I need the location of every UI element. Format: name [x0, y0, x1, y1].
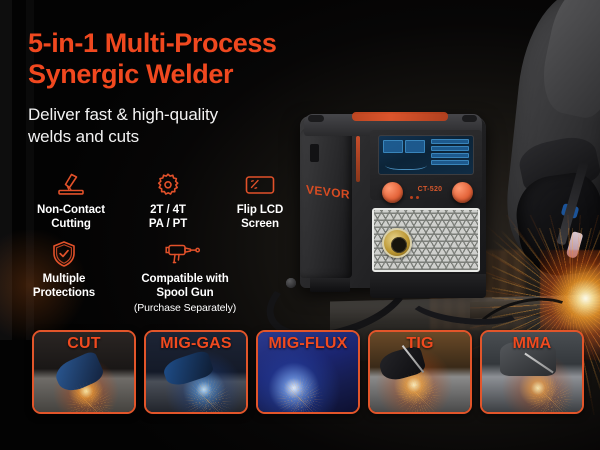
- status-leds: [410, 196, 419, 199]
- left-control-knob[interactable]: [382, 182, 403, 203]
- feature-label: 2T / 4T PA / PT: [149, 204, 187, 231]
- feature-multiple-protections: Multiple Protections: [18, 237, 110, 315]
- feature-non-contact-cutting: Non-Contact Cutting: [18, 168, 124, 231]
- gear-icon: [155, 168, 181, 202]
- headline-line-2: Synergic Welder: [28, 59, 318, 90]
- flip-screen-icon: [244, 168, 276, 202]
- mode-thumbnail-strip: CUT MIG-GAS MIG-FLUX TIG MMA: [32, 330, 584, 414]
- plasma-cutting-torch-icon: [56, 168, 86, 202]
- mode-label: MMA: [482, 335, 582, 353]
- subtitle-line-2: welds and cuts: [28, 126, 318, 148]
- spool-gun-icon: [163, 237, 207, 271]
- mode-label: MIG-GAS: [146, 335, 246, 353]
- shield-check-icon: [51, 237, 77, 271]
- feature-label: Compatible with Spool Gun: [141, 273, 228, 300]
- marketing-copy: 5-in-1 Multi-Process Synergic Welder Del…: [28, 28, 318, 149]
- feature-note: (Purchase Separately): [134, 302, 236, 314]
- mode-thumbnail-mig-gas[interactable]: MIG-GAS: [144, 330, 248, 414]
- mode-thumbnail-mig-flux[interactable]: MIG-FLUX: [256, 330, 360, 414]
- welder-machine: VEVOR CT-520: [286, 106, 501, 311]
- handle-mount-right: [462, 115, 477, 122]
- mode-label: CUT: [34, 335, 134, 353]
- mode-thumbnail-cut[interactable]: CUT: [32, 330, 136, 414]
- feature-spool-gun-compatible: Compatible with Spool Gun (Purchase Sepa…: [110, 237, 260, 315]
- product-model-label: CT-520: [402, 186, 458, 193]
- feature-trigger-modes: 2T / 4T PA / PT: [124, 168, 212, 231]
- machine-carry-handle: [352, 112, 448, 121]
- mode-thumbnail-mma[interactable]: MMA: [480, 330, 584, 414]
- subtitle-line-1: Deliver fast & high-quality: [28, 104, 318, 126]
- feature-label: Flip LCD Screen: [237, 204, 283, 231]
- mode-label: MIG-FLUX: [258, 335, 358, 353]
- feature-list: Non-Contact Cutting 2T / 4T PA / PT Flip…: [18, 168, 318, 315]
- headline-line-1: 5-in-1 Multi-Process: [28, 28, 318, 59]
- feature-label: Multiple Protections: [33, 273, 95, 300]
- mode-label: TIG: [370, 335, 470, 353]
- feature-flip-lcd-screen: Flip LCD Screen: [212, 168, 308, 231]
- mode-thumbnail-tig[interactable]: TIG: [368, 330, 472, 414]
- lcd-display: [378, 135, 474, 175]
- feature-label: Non-Contact Cutting: [37, 204, 105, 231]
- machine-accent-stripe: [356, 136, 360, 182]
- euro-connector-port: [382, 228, 412, 258]
- waveform-graphic: [385, 158, 427, 170]
